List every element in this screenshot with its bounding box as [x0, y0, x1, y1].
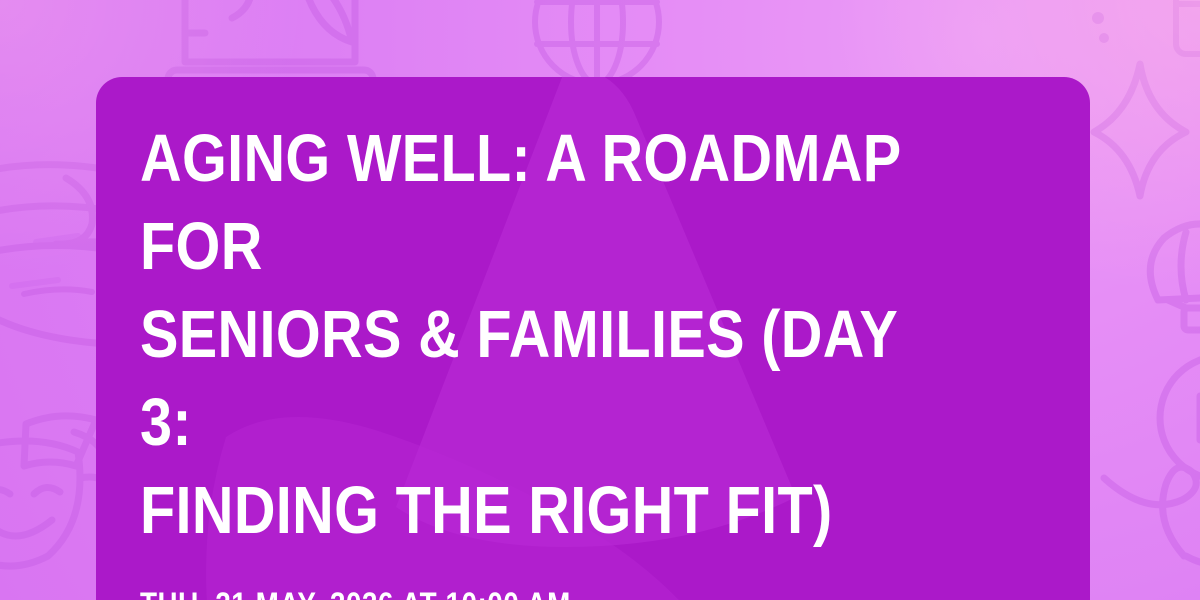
event-card: Aging Well: A Roadmap for Seniors & Fami… — [96, 77, 1090, 600]
event-title: Aging Well: A Roadmap for Seniors & Fami… — [140, 115, 919, 555]
hot-air-balloon-icon — [1150, 224, 1200, 330]
sparkle-icon — [1094, 64, 1186, 196]
spark-marks-icon — [12, 236, 78, 286]
laptop-icon — [168, 0, 373, 88]
confetti-icon — [1104, 467, 1200, 564]
event-banner: Aging Well: A Roadmap for Seniors & Fami… — [0, 0, 1200, 600]
theater-masks-icon — [0, 416, 110, 566]
sparkle-small-icon — [1092, 12, 1109, 43]
calendar-icon — [1176, 0, 1200, 54]
event-datetime: Thu, 21 May, 2026 at 10:00 AM — [140, 555, 928, 600]
globe-icon — [535, 0, 659, 84]
card-content: Aging Well: A Roadmap for Seniors & Fami… — [96, 77, 1090, 600]
play-button-icon — [1160, 356, 1200, 480]
